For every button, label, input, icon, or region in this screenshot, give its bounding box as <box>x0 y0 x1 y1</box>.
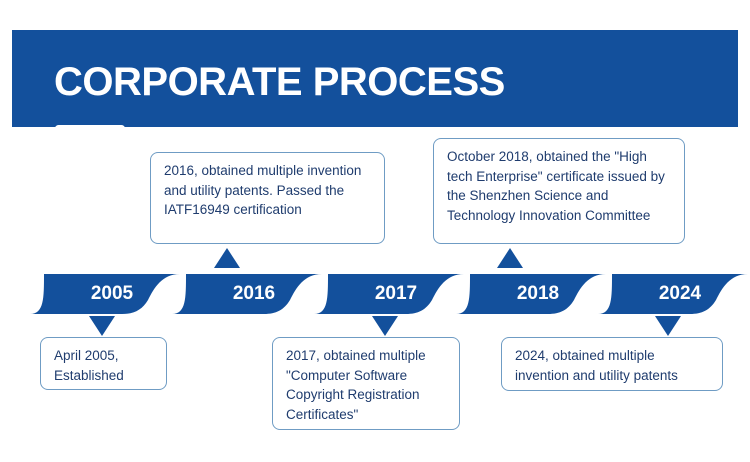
milestone-callout-2024: 2024, obtained multiple invention and ut… <box>501 337 723 391</box>
year-label-2005: 2005 <box>30 274 180 314</box>
pointer-up-icon-2018 <box>497 248 523 268</box>
year-label-2016: 2016 <box>172 274 322 314</box>
pointer-up-icon-2016 <box>214 248 240 268</box>
year-ribbon-2017[interactable]: 2017 <box>314 274 464 314</box>
pointer-down-icon-2017 <box>372 316 398 336</box>
title-underline-rule <box>55 125 125 132</box>
page-title: CORPORATE PROCESS <box>54 62 505 102</box>
year-ribbon-2018[interactable]: 2018 <box>456 274 606 314</box>
timeline-year-row: 2005 2016 2017 2018 2024 <box>0 274 750 314</box>
header-banner: CORPORATE PROCESS <box>12 30 738 127</box>
milestone-callout-2016: 2016, obtained multiple invention and ut… <box>150 152 385 244</box>
pointer-down-icon-2005 <box>89 316 115 336</box>
year-label-2018: 2018 <box>456 274 606 314</box>
year-ribbon-2005[interactable]: 2005 <box>30 274 180 314</box>
milestone-callout-2018: October 2018, obtained the "High tech En… <box>433 138 685 244</box>
corporate-process-infographic: CORPORATE PROCESS 2016, obtained multipl… <box>0 0 750 462</box>
year-ribbon-2016[interactable]: 2016 <box>172 274 322 314</box>
year-label-2024: 2024 <box>598 274 748 314</box>
milestone-callout-2017: 2017, obtained multiple "Computer Softwa… <box>272 337 460 430</box>
year-label-2017: 2017 <box>314 274 464 314</box>
year-ribbon-2024[interactable]: 2024 <box>598 274 748 314</box>
milestone-callout-2005: April 2005, Established <box>40 337 167 390</box>
pointer-down-icon-2024 <box>655 316 681 336</box>
